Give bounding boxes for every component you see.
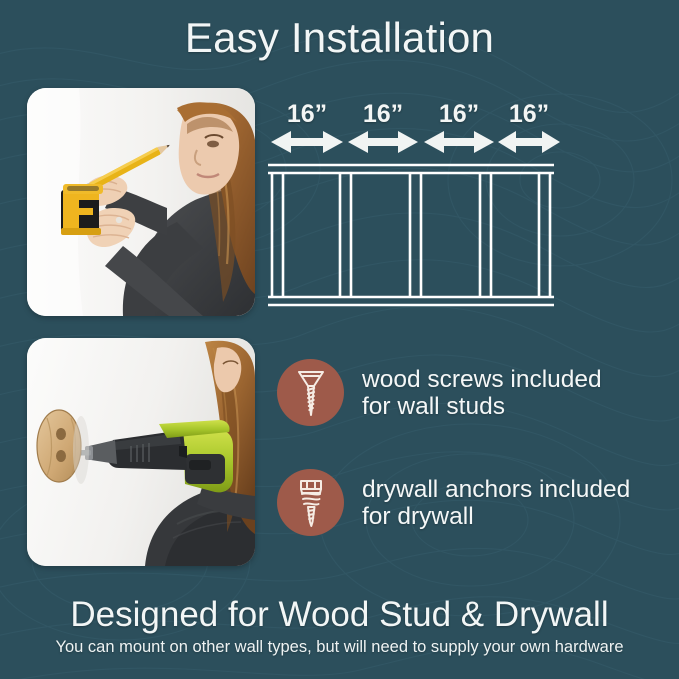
- page-title: Easy Installation: [0, 14, 679, 62]
- double-arrow-icon: [424, 130, 494, 154]
- feature-line-1: drywall anchors included: [362, 476, 630, 503]
- measurement-label: 16”: [344, 100, 422, 128]
- wood-screw-icon: [291, 367, 331, 419]
- measurement-label: 16”: [420, 100, 498, 128]
- measurement-label: 16”: [268, 100, 346, 128]
- drywall-anchor-icon: [291, 477, 331, 529]
- feature-line-2: for wall studs: [362, 393, 602, 420]
- double-arrow-icon: [271, 130, 343, 154]
- footer-subtitle: You can mount on other wall types, but w…: [0, 638, 679, 657]
- measurement-3: 16”: [494, 100, 564, 154]
- measurement-0: 16”: [268, 100, 346, 154]
- feature-drywall-anchors-text: drywall anchors included for drywall: [362, 476, 630, 530]
- installation-infographic: Easy Installation: [0, 0, 679, 679]
- stud-spacing-measurements: 16” 16” 16” 16”: [268, 100, 556, 162]
- measurement-label: 16”: [494, 100, 564, 128]
- drywall-anchor-badge: [277, 469, 344, 536]
- double-arrow-icon: [498, 130, 560, 154]
- photo-marking-wall: [27, 88, 255, 316]
- wood-screw-badge: [277, 359, 344, 426]
- feature-line-2: for drywall: [362, 503, 630, 530]
- stud-wall-frame-diagram: [266, 162, 556, 308]
- feature-wood-screws: wood screws included for wall studs: [277, 359, 602, 426]
- feature-wood-screws-text: wood screws included for wall studs: [362, 366, 602, 420]
- measurement-2: 16”: [420, 100, 498, 154]
- photo-drilling-wall: [27, 338, 255, 566]
- measurement-1: 16”: [344, 100, 422, 154]
- double-arrow-icon: [348, 130, 418, 154]
- feature-line-1: wood screws included: [362, 366, 602, 393]
- feature-drywall-anchors: drywall anchors included for drywall: [277, 469, 630, 536]
- footer-title: Designed for Wood Stud & Drywall: [0, 595, 679, 635]
